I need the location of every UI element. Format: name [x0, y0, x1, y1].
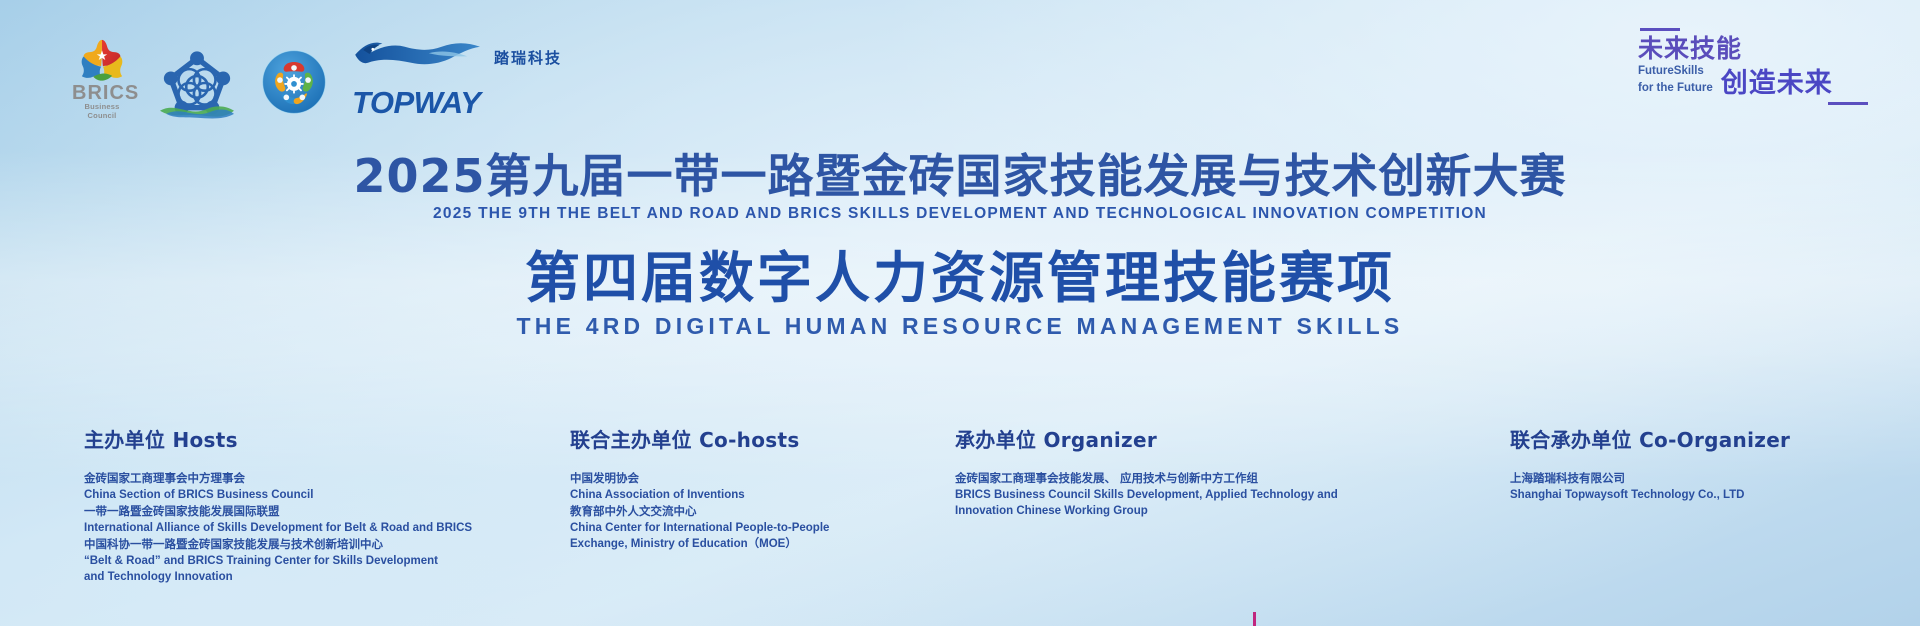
organizer-line: 中国科协一带一路暨金砖国家技能发展与技术创新培训中心: [84, 536, 524, 553]
organizer-line: Exchange, Ministry of Education（MOE）: [570, 536, 900, 553]
round-gear-star-emblem-icon: [262, 101, 326, 118]
slogan-en-line1: FutureSkills: [1638, 65, 1713, 82]
brics-business-council-logo: BRICS Business Council: [72, 39, 132, 120]
slogan-en-block: FutureSkills for the Future: [1638, 65, 1713, 98]
organizer-heading: 联合承办单位 Co-Organizer: [1510, 428, 1890, 452]
organizer-line: 金砖国家工商理事会技能发展、 应用技术与创新中方工作组: [955, 470, 1375, 487]
organizer-line: Shanghai Topwaysoft Technology Co., LTD: [1510, 487, 1890, 504]
organizer-line: China Association of Inventions: [570, 487, 900, 504]
subtitle-en: THE 4RD DIGITAL HUMAN RESOURCE MANAGEMEN…: [0, 312, 1920, 340]
subtitle-cn: 第四届数字人力资源管理技能赛项: [0, 246, 1920, 310]
slogan-cn-top: 未来技能: [1638, 35, 1868, 63]
organizer-column-hosts: 主办单位 Hosts 金砖国家工商理事会中方理事会 China Section …: [84, 428, 524, 586]
brics-star-icon: [80, 39, 124, 81]
organizer-heading: 主办单位 Hosts: [84, 428, 524, 452]
organizer-line: 金砖国家工商理事会中方理事会: [84, 470, 524, 487]
organizer-column-cohosts: 联合主办单位 Co-hosts 中国发明协会 China Association…: [570, 428, 900, 553]
organizer-line: 中国发明协会: [570, 470, 900, 487]
topway-logo: 踏瑞科技 TOPWAY: [352, 33, 562, 118]
slogan-block: 未来技能 FutureSkills for the Future 创造未来: [1638, 28, 1868, 105]
organizer-line: 一带一路暨金砖国家技能发展国际联盟: [84, 503, 524, 520]
topway-dragon-icon: [352, 33, 488, 88]
organizer-line: and Technology Innovation: [84, 569, 524, 586]
title-block: 2025第九届一带一路暨金砖国家技能发展与技术创新大赛 2025 THE 9TH…: [0, 150, 1920, 340]
organizer-line: BRICS Business Council Skills Developmen…: [955, 487, 1375, 504]
slogan-cn-bottom: 创造未来: [1721, 69, 1833, 98]
main-title-en: 2025 THE 9TH THE BELT AND ROAD AND BRICS…: [0, 204, 1920, 224]
logo-strip: BRICS Business Council: [72, 33, 562, 120]
organizer-heading: 联合主办单位 Co-hosts: [570, 428, 900, 452]
slogan-rule-bottom: [1828, 102, 1868, 105]
organizer-line: China Center for International People-to…: [570, 520, 900, 537]
slogan-en-line2: for the Future: [1638, 82, 1713, 99]
slogan-rule-top: [1640, 28, 1680, 31]
topway-chinese-name: 踏瑞科技: [494, 47, 562, 68]
organizer-line: 教育部中外人文交流中心: [570, 503, 900, 520]
skills-alliance-logo: [158, 46, 236, 120]
brics-sub-wordmark: Business Council: [72, 102, 132, 120]
organizer-column-organizer: 承办单位 Organizer 金砖国家工商理事会技能发展、 应用技术与创新中方工…: [955, 428, 1375, 520]
organizer-line: 上海踏瑞科技有限公司: [1510, 470, 1890, 487]
organizer-column-coorganizer: 联合承办单位 Co-Organizer 上海踏瑞科技有限公司 Shanghai …: [1510, 428, 1890, 503]
main-title-cn: 2025第九届一带一路暨金砖国家技能发展与技术创新大赛: [0, 150, 1920, 202]
round-emblem-logo: [262, 50, 326, 114]
organizer-line: Innovation Chinese Working Group: [955, 503, 1375, 520]
organizer-line: International Alliance of Skills Develop…: [84, 520, 524, 537]
organizer-line: China Section of BRICS Business Council: [84, 487, 524, 504]
event-banner: BRICS Business Council: [0, 0, 1920, 626]
topway-wordmark: TOPWAY: [352, 88, 562, 118]
organizer-line: “Belt & Road” and BRICS Training Center …: [84, 553, 524, 570]
skills-alliance-icon: [158, 107, 236, 124]
brics-wordmark: BRICS: [72, 84, 132, 102]
bottom-center-mark: [1253, 612, 1256, 626]
organizer-heading: 承办单位 Organizer: [955, 428, 1375, 452]
